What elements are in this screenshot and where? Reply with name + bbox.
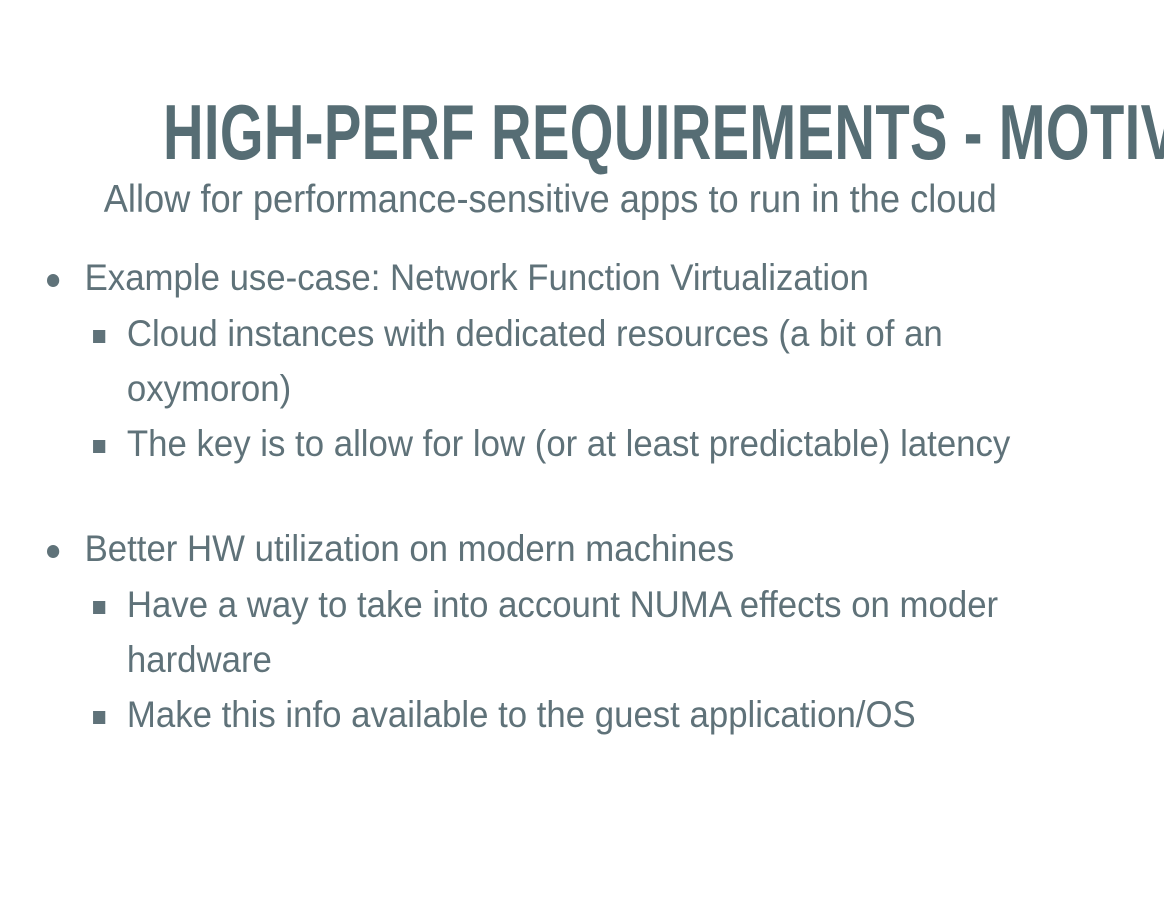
- dot-bullet-icon: [47, 545, 59, 558]
- list-item: Better HW utilization on modern machines: [0, 523, 1094, 575]
- dot-bullet-icon: [47, 274, 59, 287]
- list-item-label: Example use-case: Network Function Virtu…: [85, 257, 869, 298]
- presentation-slide: High-Perf Requirements - Motivation Allo…: [0, 0, 1164, 899]
- bullet-group: Better HW utilization on modern machines…: [0, 523, 1164, 742]
- list-item: The key is to allow for low (or at least…: [0, 416, 1094, 471]
- square-bullet-icon: [93, 440, 105, 453]
- list-item-label: Make this info available to the guest ap…: [127, 694, 916, 735]
- sub-bullet-group: Cloud instances with dedicated resources…: [0, 306, 1164, 471]
- list-item-label: Have a way to take into account NUMA eff…: [127, 584, 998, 680]
- list-item-label: The key is to allow for low (or at least…: [127, 423, 1010, 464]
- page-title: High-Perf Requirements - Motivation: [163, 86, 1001, 178]
- list-item-label: Better HW utilization on modern machines: [85, 528, 735, 569]
- slide-body-list: Example use-case: Network Function Virtu…: [0, 252, 1164, 742]
- list-item: Have a way to take into account NUMA eff…: [0, 577, 1094, 687]
- list-item: Example use-case: Network Function Virtu…: [0, 252, 1094, 304]
- square-bullet-icon: [93, 711, 105, 724]
- bullet-group: Example use-case: Network Function Virtu…: [0, 252, 1164, 471]
- list-item-label: Cloud instances with dedicated resources…: [127, 313, 943, 409]
- slide-subtitle: Allow for performance-sensitive apps to …: [62, 176, 1039, 224]
- list-item: Cloud instances with dedicated resources…: [0, 306, 1094, 416]
- list-item: Make this info available to the guest ap…: [0, 687, 1094, 742]
- sub-bullet-group: Have a way to take into account NUMA eff…: [0, 577, 1164, 742]
- square-bullet-icon: [93, 601, 105, 614]
- square-bullet-icon: [93, 330, 105, 343]
